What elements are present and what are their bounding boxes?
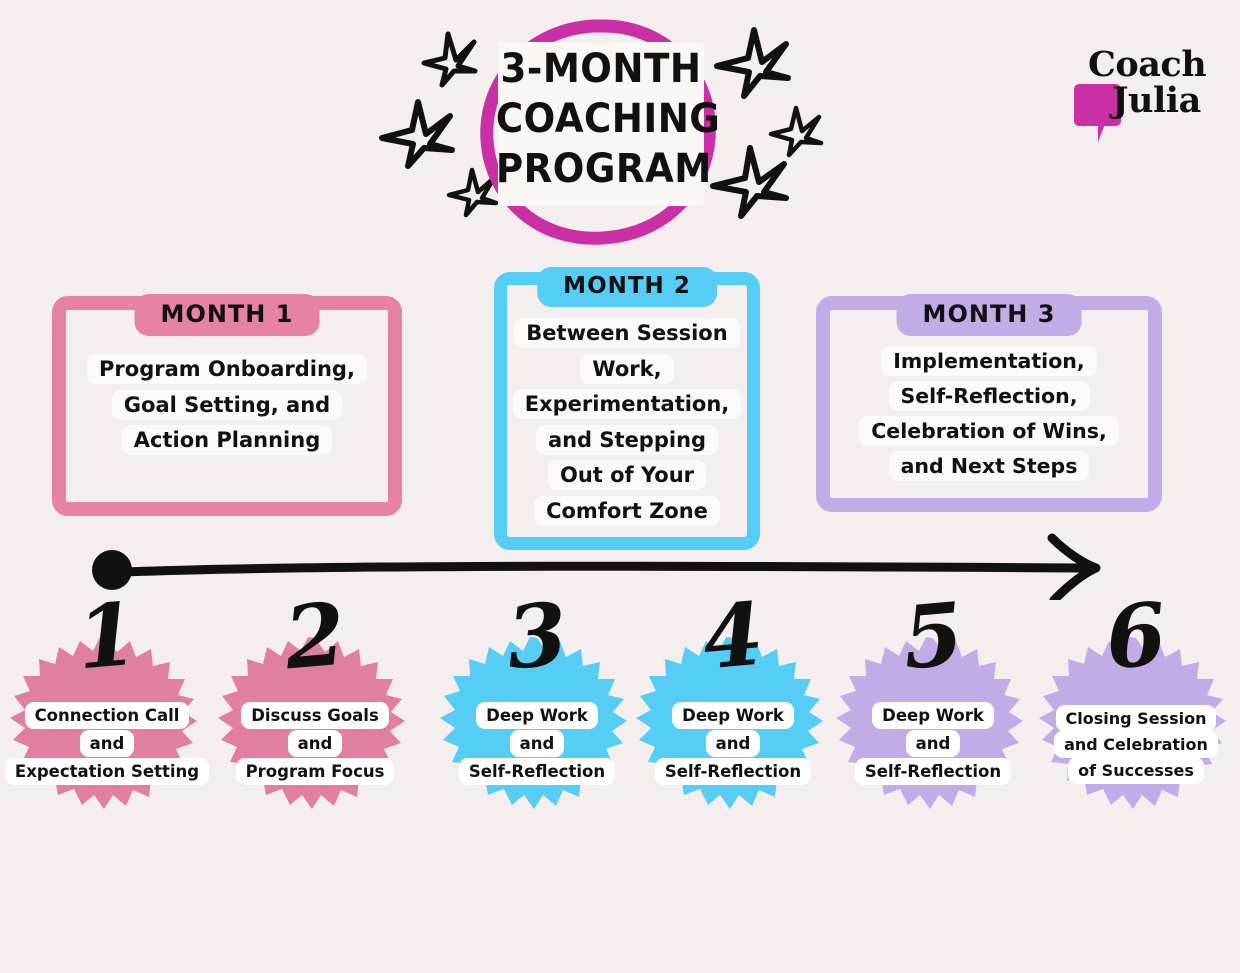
brand-logo: Coach Julia xyxy=(1074,46,1222,138)
month-card-body: Between Session Work, Experimentation, a… xyxy=(502,316,752,529)
logo-line-julia: Julia xyxy=(1112,82,1201,119)
month-2-line-6: Comfort Zone xyxy=(534,496,720,526)
infographic-canvas: 3-MONTH COACHING PROGRAM Coach Julia MON… xyxy=(0,0,1240,973)
timeline-line xyxy=(124,566,1090,572)
month-3-line-1: Implementation, xyxy=(881,346,1096,376)
timeline-arrow xyxy=(80,530,1140,600)
month-1-line-1: Program Onboarding, xyxy=(87,354,367,384)
month-2-line-1: Between Session xyxy=(514,318,739,348)
step-label-5: Deep Work and Self-Reflection xyxy=(829,702,1037,786)
month-card-3[interactable]: MONTH 3 Implementation, Self-Reflection,… xyxy=(816,296,1162,512)
month-1-line-2: Goal Setting, and xyxy=(112,390,342,420)
star-icon xyxy=(378,98,456,170)
month-1-line-3: Action Planning xyxy=(122,425,332,455)
step-badge-2[interactable]: 2 Discuss Goals and Program Focus xyxy=(215,598,415,838)
badge-4-line-3: Self-Reflection xyxy=(655,758,811,785)
step-badge-1[interactable]: 1 Connection Call and Expectation Settin… xyxy=(7,598,207,838)
step-label-6: Closing Session and Celebration of Succe… xyxy=(1032,706,1240,784)
badge-1-line-1: Connection Call xyxy=(25,702,190,729)
badge-1-line-3: Expectation Setting xyxy=(5,758,209,785)
month-card-2[interactable]: MONTH 2 Between Session Work, Experiment… xyxy=(494,272,760,550)
logo-line-coach: Coach xyxy=(1088,46,1206,83)
badge-6-line-2: and Celebration xyxy=(1054,731,1218,758)
badge-1-line-2: and xyxy=(80,730,135,757)
badge-3-line-1: Deep Work xyxy=(476,702,598,729)
step-badge-5[interactable]: 5 Deep Work and Self-Reflection xyxy=(833,598,1033,838)
month-3-line-2: Self-Reflection, xyxy=(889,381,1090,411)
badge-4-line-1: Deep Work xyxy=(672,702,794,729)
badge-2-line-3: Program Focus xyxy=(236,758,395,785)
month-3-line-3: Celebration of Wins, xyxy=(859,416,1119,446)
step-badge-6[interactable]: 6 Closing Session and Celebration of Suc… xyxy=(1036,598,1236,838)
step-badge-4[interactable]: 4 Deep Work and Self-Reflection xyxy=(633,598,833,838)
step-label-3: Deep Work and Self-Reflection xyxy=(433,702,641,786)
badge-3-line-3: Self-Reflection xyxy=(459,758,615,785)
badge-2-line-1: Discuss Goals xyxy=(241,702,389,729)
month-card-1[interactable]: MONTH 1 Program Onboarding, Goal Setting… xyxy=(52,296,402,516)
page-title: 3-MONTH COACHING PROGRAM xyxy=(496,44,706,194)
badge-5-line-2: and xyxy=(906,730,961,757)
month-2-line-2: Work, xyxy=(580,354,673,384)
month-card-tab-label: MONTH 2 xyxy=(537,267,717,307)
badge-6-line-3: of Successes xyxy=(1068,757,1204,784)
month-2-line-5: Out of Your xyxy=(548,460,706,490)
badge-5-line-1: Deep Work xyxy=(872,702,994,729)
title-line-3: PROGRAM xyxy=(496,144,706,194)
badge-4-line-2: and xyxy=(706,730,761,757)
badge-5-line-3: Self-Reflection xyxy=(855,758,1011,785)
star-icon xyxy=(712,26,792,100)
month-card-body: Program Onboarding, Goal Setting, and Ac… xyxy=(72,352,382,459)
month-3-line-4: and Next Steps xyxy=(889,451,1090,481)
month-card-body: Implementation, Self-Reflection, Celebra… xyxy=(830,344,1148,484)
star-icon xyxy=(708,144,790,220)
month-2-line-4: and Stepping xyxy=(536,425,718,455)
star-icon xyxy=(418,30,478,88)
badge-2-line-2: and xyxy=(288,730,343,757)
step-badge-3[interactable]: 3 Deep Work and Self-Reflection xyxy=(437,598,637,838)
step-label-2: Discuss Goals and Program Focus xyxy=(211,702,419,786)
month-2-line-3: Experimentation, xyxy=(513,389,742,419)
badge-3-line-2: and xyxy=(510,730,565,757)
month-card-tab-label: MONTH 3 xyxy=(897,294,1082,336)
title-block: 3-MONTH COACHING PROGRAM xyxy=(370,8,830,258)
title-line-2: COACHING xyxy=(496,94,706,144)
title-line-1: 3-MONTH xyxy=(496,44,706,94)
badge-6-line-1: Closing Session xyxy=(1056,705,1217,732)
step-label-4: Deep Work and Self-Reflection xyxy=(629,702,837,786)
month-card-tab-label: MONTH 1 xyxy=(135,294,320,336)
step-label-1: Connection Call and Expectation Setting xyxy=(3,702,211,786)
